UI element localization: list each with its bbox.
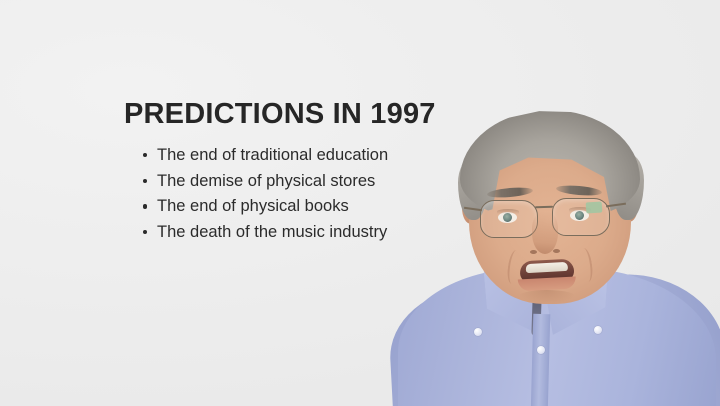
shirt-placket xyxy=(531,314,551,406)
list-item-label: The death of the music industry xyxy=(157,223,387,241)
video-slide-frame: PREDICTIONS IN 1997 The end of tradition… xyxy=(0,0,720,406)
bullet-dot-icon xyxy=(143,153,147,157)
nostril-left xyxy=(530,250,537,254)
nose xyxy=(532,212,558,254)
list-item-label: The end of traditional education xyxy=(157,146,388,164)
bullet-dot-icon xyxy=(143,230,147,234)
placket-button xyxy=(537,346,545,354)
chin-shadow xyxy=(518,290,576,304)
bullet-dot-icon xyxy=(143,179,147,183)
collar-button-left xyxy=(474,328,482,336)
teeth xyxy=(526,262,568,273)
glasses-lens-left xyxy=(480,200,538,238)
glasses-lens-glare xyxy=(586,201,603,213)
list-item-label: The end of physical books xyxy=(157,197,349,215)
collar-button-right xyxy=(594,326,602,334)
presenter-portrait xyxy=(390,100,720,406)
list-item-label: The demise of physical stores xyxy=(157,172,375,190)
nostril-right xyxy=(553,249,560,253)
bullet-dot-icon xyxy=(143,204,147,208)
